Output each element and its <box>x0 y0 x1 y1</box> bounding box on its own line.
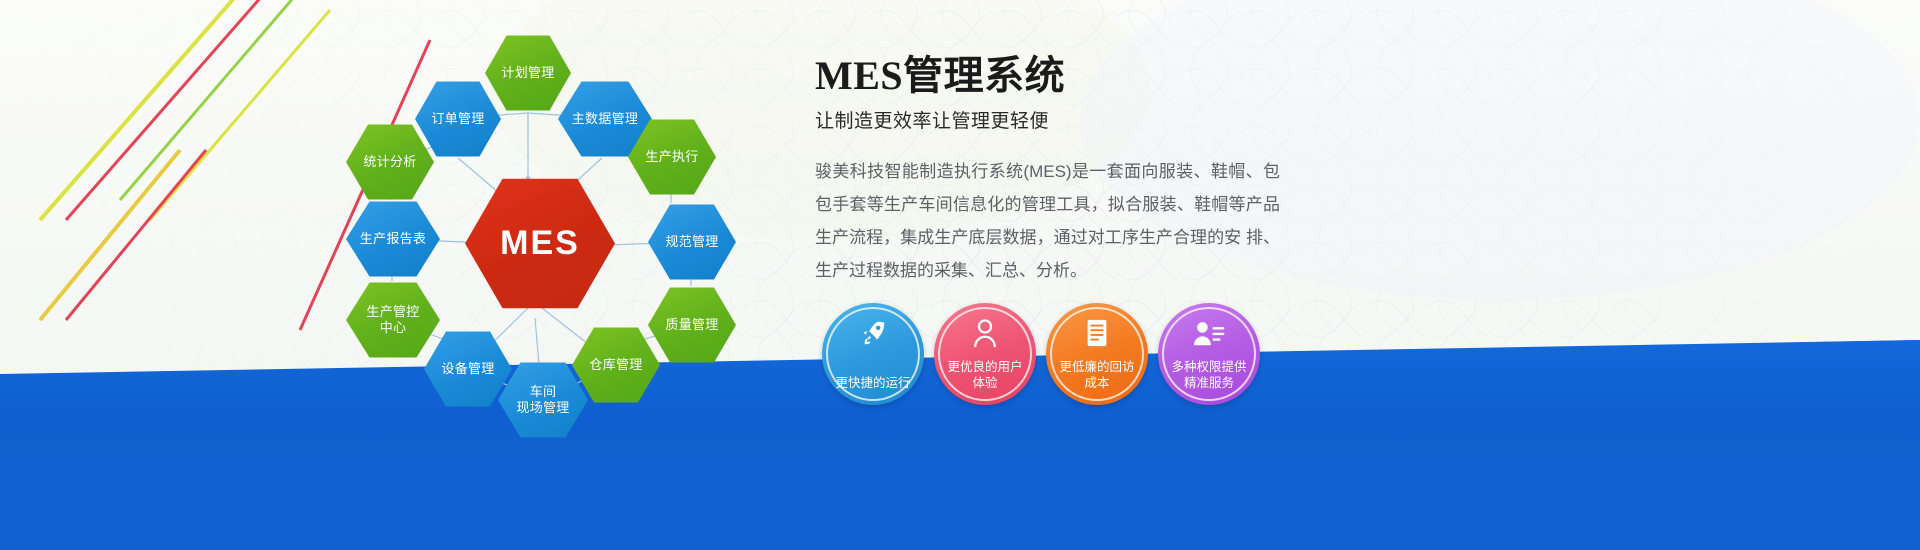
hex-node-label: 生产报告表 <box>360 231 427 247</box>
feature-badge-label: 更优良的用户 体验 <box>941 359 1028 392</box>
hex-node-label: 车间 现场管理 <box>516 384 569 417</box>
page-subtitle: 让制造更效率让管理更轻便 <box>815 106 1515 133</box>
hex-node-label: 订单管理 <box>431 111 484 127</box>
hex-node-label: 生产管控 中心 <box>366 304 419 337</box>
hex-node-label: 规范管理 <box>665 234 718 250</box>
user-icon <box>934 316 1036 350</box>
feature-badge-list: 更快捷的运行 更优良的用户 体验 <box>822 303 1260 405</box>
description-paragraph: 骏美科技智能制造执行系统(MES)是一套面向服装、鞋帽、包包手套等生产车间信息化… <box>815 155 1280 288</box>
feature-badge-lower-revisit-cost[interactable]: 更低廉的回访 成本 <box>1046 303 1148 405</box>
mes-promo-banner: 计划管理 订单管理 主数据管理 统计分析 生产执行 生产报告表 规范管理 生产管… <box>0 0 1920 550</box>
feature-badge-label: 更低廉的回访 成本 <box>1053 359 1140 392</box>
users-icon <box>1158 316 1260 350</box>
document-icon <box>1046 316 1148 350</box>
hex-node-label: 统计分析 <box>363 154 416 170</box>
feature-badge-better-user-experience[interactable]: 更优良的用户 体验 <box>934 303 1036 405</box>
feature-badge-multi-permission[interactable]: 多种权限提供 精准服务 <box>1158 303 1260 405</box>
hex-node-label: 计划管理 <box>501 65 554 81</box>
hex-node-label: 设备管理 <box>441 361 494 377</box>
hex-node-label: 生产执行 <box>645 149 698 165</box>
feature-badge-faster-operation[interactable]: 更快捷的运行 <box>822 303 924 405</box>
feature-badge-label: 更快捷的运行 <box>829 375 916 391</box>
hex-node-label: 主数据管理 <box>572 111 639 127</box>
feature-badge-label: 多种权限提供 精准服务 <box>1165 359 1252 392</box>
headline-block: MES管理系统 让制造更效率让管理更轻便 骏美科技智能制造执行系统(MES)是一… <box>815 54 1515 288</box>
hex-node-label: 质量管理 <box>665 317 718 333</box>
hex-center-label: MES <box>500 222 580 265</box>
mes-hex-diagram: 计划管理 订单管理 主数据管理 统计分析 生产执行 生产报告表 规范管理 生产管… <box>330 18 800 438</box>
rocket-icon <box>822 316 924 350</box>
hex-node-label: 仓库管理 <box>589 357 642 373</box>
page-title: MES管理系统 <box>815 54 1515 98</box>
